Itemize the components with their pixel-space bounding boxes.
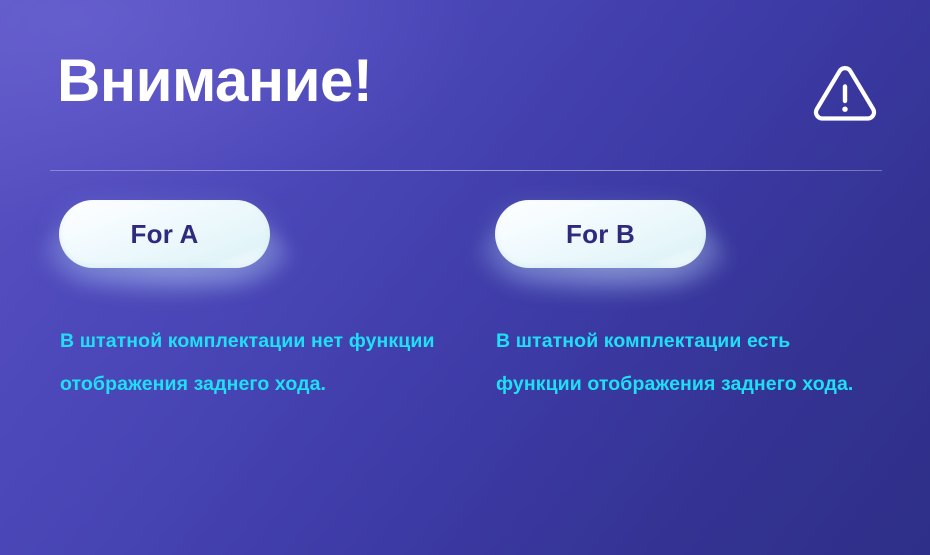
column-for-b: For B В штатной комплектации есть функци… — [495, 200, 895, 268]
header-divider — [50, 170, 882, 171]
comparison-columns: For A В штатной комплектации нет функции… — [0, 200, 930, 500]
for-a-button[interactable]: For A — [59, 200, 270, 268]
column-a-description: В штатной комплектации нет функции отобр… — [60, 320, 442, 406]
pill-wrap-b: For B — [495, 200, 706, 268]
pill-wrap-a: For A — [59, 200, 270, 268]
slide-header: Внимание! — [0, 0, 930, 172]
column-for-a: For A В штатной комплектации нет функции… — [59, 200, 459, 268]
page-title: Внимание! — [57, 51, 372, 111]
for-b-button-label: For B — [566, 221, 635, 247]
warning-triangle-icon — [813, 65, 877, 125]
for-a-button-label: For A — [131, 221, 199, 247]
for-b-button[interactable]: For B — [495, 200, 706, 268]
warning-slide: Внимание! For A В штатной комплектации н… — [0, 0, 930, 555]
column-b-description: В штатной комплектации есть функции отоб… — [496, 320, 878, 406]
